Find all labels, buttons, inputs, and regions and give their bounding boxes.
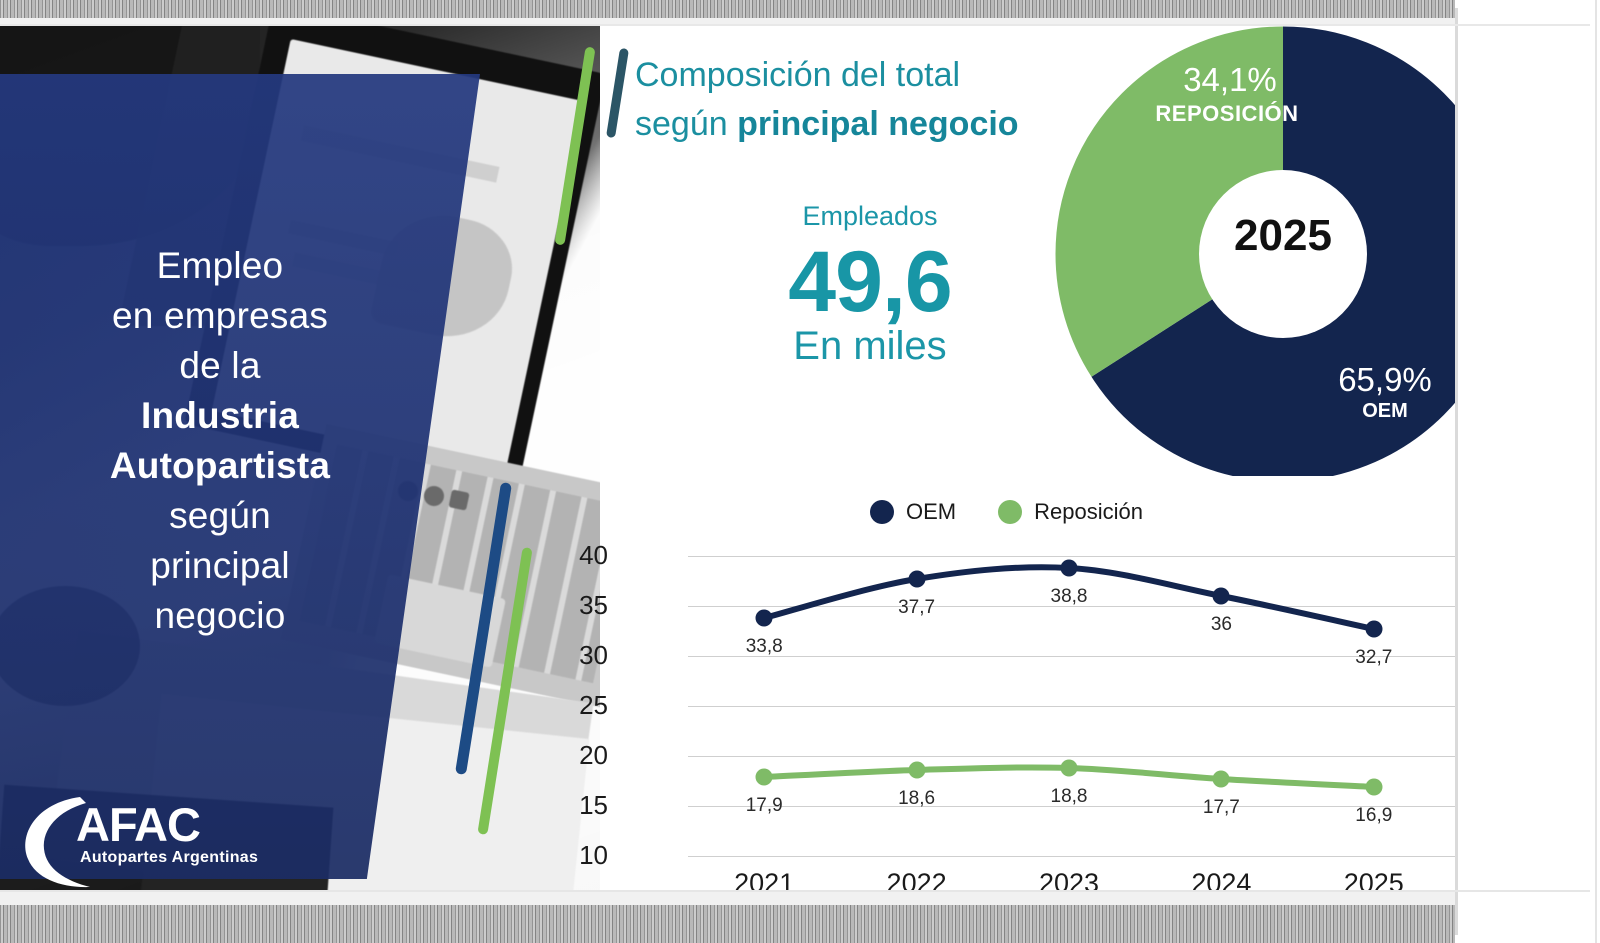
photo-collage: Empleo en empresas de la Industria Autop… — [0, 26, 600, 892]
data-label: 16,9 — [1355, 805, 1392, 827]
y-axis-tick: 20 — [548, 740, 608, 771]
donut-center-year: 2025 — [1203, 211, 1363, 261]
legend-dot-icon — [998, 500, 1022, 524]
x-axis-tick: 2021 — [699, 868, 829, 892]
headline-bold: principal negocio — [737, 105, 1018, 143]
kpi-unit: En miles — [705, 324, 1035, 369]
x-axis-tick: 2022 — [852, 868, 982, 892]
data-point — [1061, 560, 1078, 577]
data-point — [1213, 588, 1230, 605]
bottom-band-gap — [0, 892, 1455, 905]
afac-tagline: Autopartes Argentinas — [80, 849, 258, 867]
data-label: 17,7 — [1203, 797, 1240, 819]
slide-edge-top — [0, 24, 1590, 26]
donut-chart: 34,1% REPOSICIÓN 65,9% OEM 2025 — [1055, 26, 1505, 476]
afac-wordmark: AFAC — [76, 799, 200, 851]
right-margin — [1455, 0, 1600, 943]
data-point — [908, 762, 925, 779]
kpi-block: Empleados 49,6 En miles — [705, 201, 1035, 369]
data-label: 17,9 — [746, 795, 783, 817]
legend-label: OEM — [906, 499, 956, 525]
slide-canvas: Empleo en empresas de la Industria Autop… — [0, 26, 1590, 892]
title-line: principal — [35, 541, 405, 591]
title-line-bold: Industria — [35, 391, 405, 441]
x-axis-tick: 2025 — [1309, 868, 1439, 892]
data-label: 38,8 — [1051, 586, 1088, 608]
y-axis-tick: 30 — [548, 640, 608, 671]
title-line-bold: Autopartista — [35, 441, 405, 491]
y-axis-tick: 40 — [548, 540, 608, 571]
title-line: según — [35, 491, 405, 541]
kpi-value: 49,6 — [705, 236, 1035, 328]
headline-line-2: según principal negocio — [635, 100, 1105, 149]
data-point — [756, 769, 773, 786]
photo-port-icon — [448, 489, 469, 510]
title-line: de la — [35, 341, 405, 391]
title-line: en empresas — [35, 291, 405, 341]
data-label: 18,6 — [898, 788, 935, 810]
y-axis-tick: 15 — [548, 790, 608, 821]
line-chart: OEM Reposición 4035302520151020212022202… — [600, 481, 1500, 891]
legend-dot-icon — [870, 500, 894, 524]
title-line: negocio — [35, 591, 405, 641]
y-axis-tick: 10 — [548, 840, 608, 871]
data-label: 37,7 — [898, 597, 935, 619]
bottom-striped-band — [0, 905, 1455, 943]
donut-oem-percent: 65,9% — [1310, 361, 1460, 399]
donut-reposicion-label: REPOSICIÓN — [1137, 101, 1317, 127]
data-point — [1061, 760, 1078, 777]
data-point — [1365, 621, 1382, 638]
content-area: Composición del total según principal ne… — [600, 26, 1590, 892]
legend-label: Reposición — [1034, 499, 1143, 525]
top-striped-band — [0, 0, 1455, 18]
data-point — [1365, 779, 1382, 796]
data-point — [908, 571, 925, 588]
chart-legend: OEM Reposición — [870, 499, 1143, 525]
headline-plain: según — [635, 105, 737, 143]
donut-reposicion-percent: 34,1% — [1145, 61, 1315, 99]
title-line: Empleo — [35, 241, 405, 291]
data-label: 36 — [1211, 614, 1232, 636]
data-label: 18,8 — [1051, 786, 1088, 808]
plot-area: 403530252015102021202220232024202533,837… — [620, 556, 1470, 856]
data-point — [756, 610, 773, 627]
projection-frame: Empleo en empresas de la Industria Autop… — [0, 0, 1600, 943]
headline: Composición del total según principal ne… — [635, 51, 1105, 149]
grid-line — [688, 856, 1518, 857]
slide-edge-bottom — [0, 890, 1590, 892]
legend-item-reposicion: Reposición — [998, 499, 1143, 525]
y-axis-tick: 25 — [548, 690, 608, 721]
donut-oem-label: OEM — [1310, 400, 1460, 423]
legend-item-oem: OEM — [870, 499, 956, 525]
afac-logo: AFAC Autopartes Argentinas — [18, 791, 268, 891]
x-axis-tick: 2023 — [1004, 868, 1134, 892]
data-label: 32,7 — [1355, 647, 1392, 669]
data-label: 33,8 — [746, 636, 783, 658]
x-axis-tick: 2024 — [1156, 868, 1286, 892]
slide-title: Empleo en empresas de la Industria Autop… — [35, 241, 405, 641]
kpi-label: Empleados — [705, 201, 1035, 232]
headline-line-1: Composición del total — [635, 51, 1105, 100]
data-point — [1213, 771, 1230, 788]
y-axis-tick: 35 — [548, 590, 608, 621]
